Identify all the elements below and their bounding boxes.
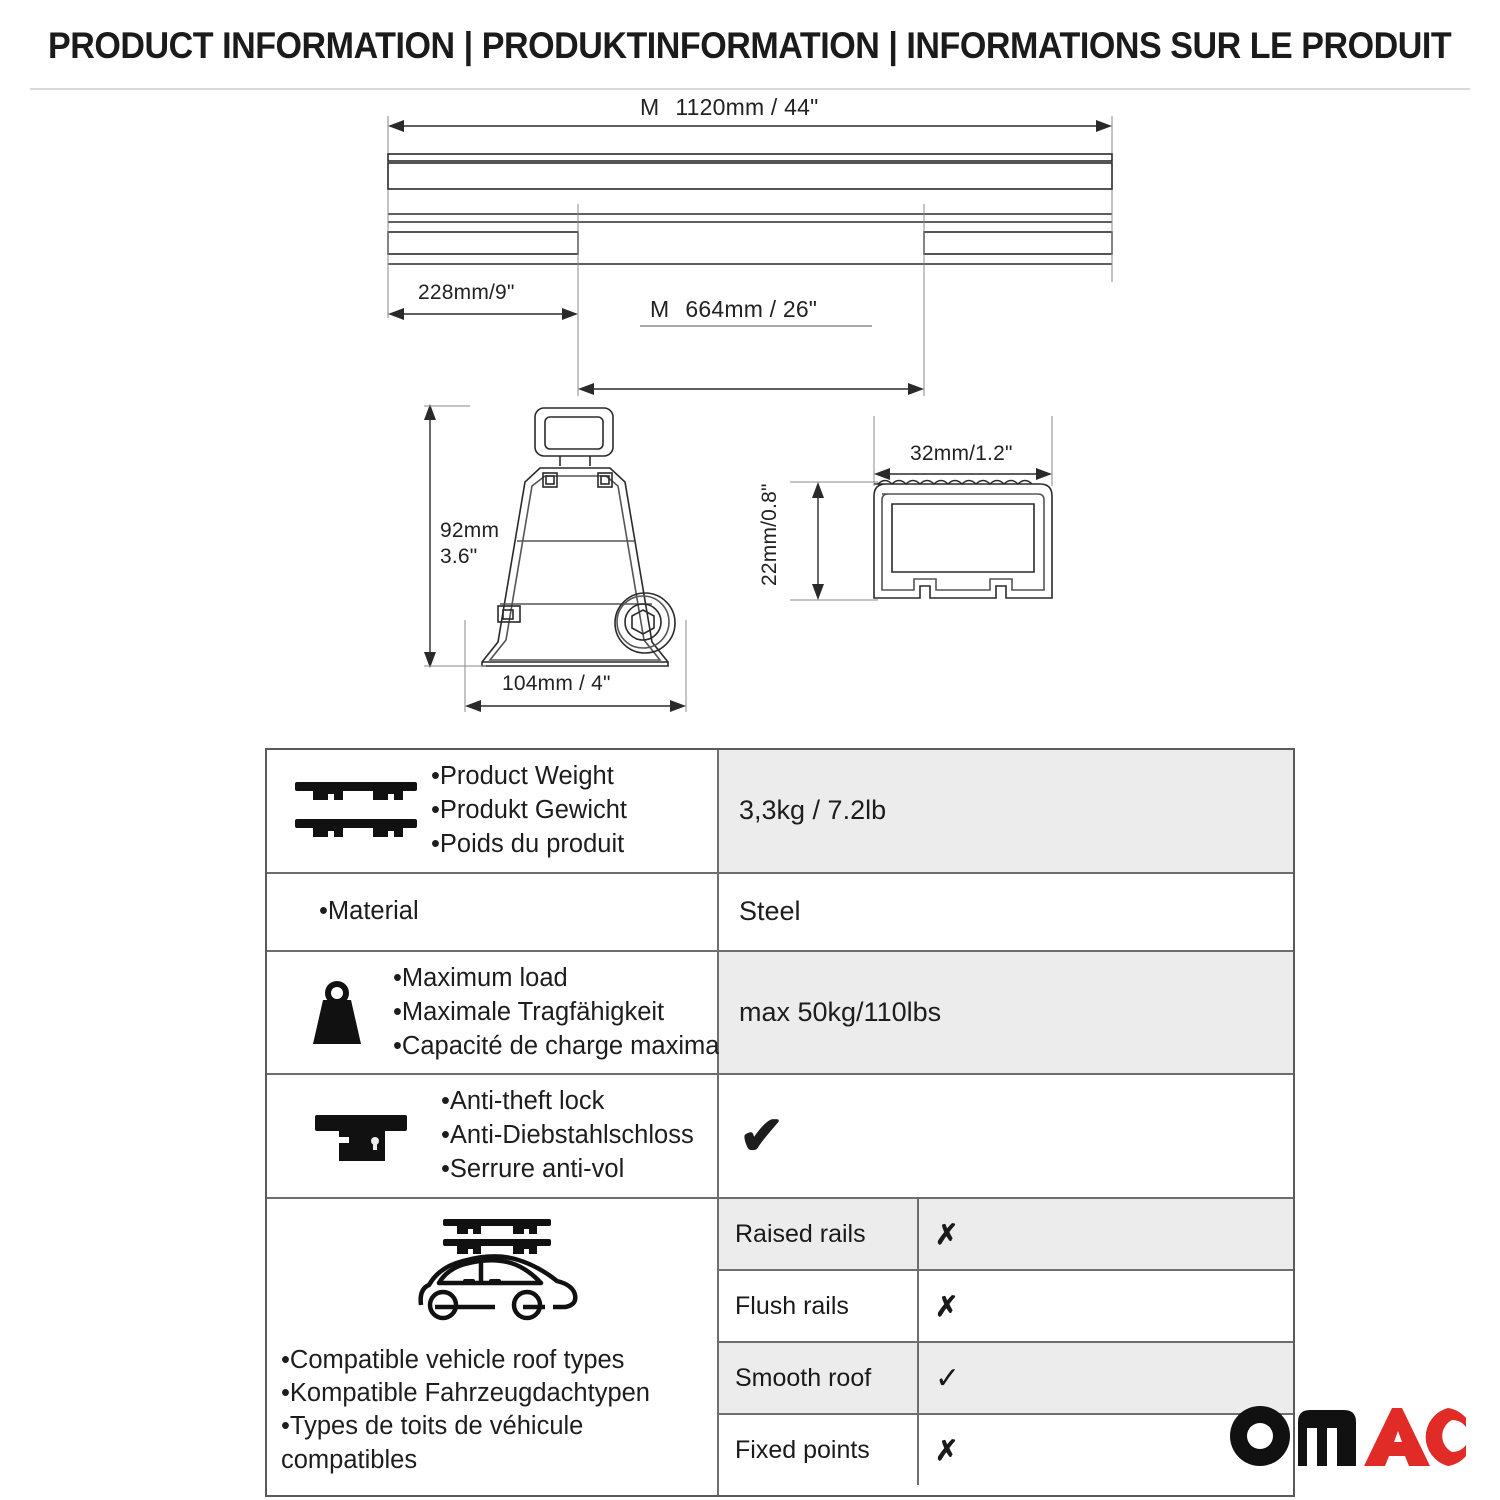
- table-row: •Anti-theft lock •Anti-Diebstahlschloss …: [267, 1075, 1293, 1199]
- specification-table: •Product Weight •Produkt Gewicht •Poids …: [265, 748, 1295, 1497]
- table-row: •Maximum load •Maximale Tragfähigkeit •C…: [267, 952, 1293, 1076]
- spec-label-cell: •Anti-theft lock •Anti-Diebstahlschloss …: [267, 1075, 719, 1197]
- table-row: •Product Weight •Produkt Gewicht •Poids …: [267, 750, 1293, 874]
- roof-option-name: Smooth roof: [719, 1343, 919, 1413]
- checkmark-icon: ✔: [739, 1109, 784, 1163]
- spec-label-cell: •Maximum load •Maximale Tragfähigkeit •C…: [267, 952, 719, 1074]
- spec-label-cell: •Product Weight •Produkt Gewicht •Poids …: [267, 750, 719, 872]
- roof-option-fixed-points: Fixed points ✗: [719, 1415, 1293, 1485]
- spec-label-line: •Capacité de charge maximale: [393, 1030, 739, 1064]
- cross-icon: ✗: [919, 1271, 1293, 1341]
- table-row: •Material Steel: [267, 874, 1293, 952]
- drawing-geometry: [0, 86, 1500, 736]
- spec-label-line: •Produkt Gewicht: [431, 794, 627, 828]
- roof-types-label-line: •Kompatible Fahrzeugdachtypen: [281, 1377, 707, 1410]
- spec-label-cell: •Material: [267, 874, 719, 950]
- roof-option-name: Fixed points: [719, 1415, 919, 1485]
- roof-option-name: Raised rails: [719, 1199, 919, 1269]
- omac-logo: [1224, 1396, 1466, 1470]
- spec-label-line: •Serrure anti-vol: [441, 1153, 694, 1187]
- roof-types-options: Raised rails ✗ Flush rails ✗ Smooth roof…: [719, 1199, 1293, 1495]
- roof-types-label-line: •Compatible vehicle roof types: [281, 1344, 707, 1377]
- spec-label-line: •Material: [319, 895, 419, 929]
- page-header: PRODUCT INFORMATION | PRODUKTINFORMATION…: [0, 0, 1500, 92]
- spec-value-product-weight: 3,3kg / 7.2lb: [719, 750, 1293, 872]
- spec-value-material: Steel: [719, 874, 1293, 950]
- spec-label-text: •Maximum load •Maximale Tragfähigkeit •C…: [393, 962, 739, 1064]
- roof-option-flush-rails: Flush rails ✗: [719, 1271, 1293, 1343]
- spec-label-line: •Maximale Tragfähigkeit: [393, 996, 739, 1030]
- table-row-roof-types: •Compatible vehicle roof types •Kompatib…: [267, 1199, 1293, 1495]
- roof-types-label-cell: •Compatible vehicle roof types •Kompatib…: [267, 1199, 719, 1495]
- spec-label-line: •Product Weight: [431, 760, 627, 794]
- spec-label-line: •Anti-theft lock: [441, 1085, 694, 1119]
- spec-value-anti-theft-lock: ✔: [719, 1075, 1293, 1197]
- spec-value-maximum-load: max 50kg/110lbs: [719, 952, 1293, 1074]
- weight-icon: [281, 972, 393, 1054]
- spec-label-line: •Anti-Diebstahlschloss: [441, 1119, 694, 1153]
- roof-option-name: Flush rails: [719, 1271, 919, 1341]
- technical-drawing: M1120mm / 44" 228mm/9" M664mm / 26" 92mm…: [0, 86, 1500, 736]
- spec-label-text: •Material: [281, 895, 419, 929]
- roof-types-label-text: •Compatible vehicle roof types •Kompatib…: [281, 1344, 707, 1477]
- lock-icon: [281, 1103, 441, 1169]
- roof-types-label-line: •Types de toits de véhicule compatibles: [281, 1410, 707, 1476]
- cross-icon: ✗: [919, 1199, 1293, 1269]
- spec-label-text: •Product Weight •Produkt Gewicht •Poids …: [431, 760, 627, 862]
- page-title: PRODUCT INFORMATION | PRODUKTINFORMATION…: [48, 25, 1451, 67]
- roof-option-smooth-roof: Smooth roof ✓: [719, 1343, 1293, 1415]
- omac-logo-mark: [1224, 1396, 1466, 1470]
- crossbars-icon: [281, 774, 431, 848]
- spec-label-text: •Anti-theft lock •Anti-Diebstahlschloss …: [441, 1085, 694, 1187]
- car-with-roofbars-icon: [405, 1213, 583, 1330]
- spec-label-line: •Maximum load: [393, 962, 739, 996]
- spec-label-line: •Poids du produit: [431, 828, 627, 862]
- roof-option-raised-rails: Raised rails ✗: [719, 1199, 1293, 1271]
